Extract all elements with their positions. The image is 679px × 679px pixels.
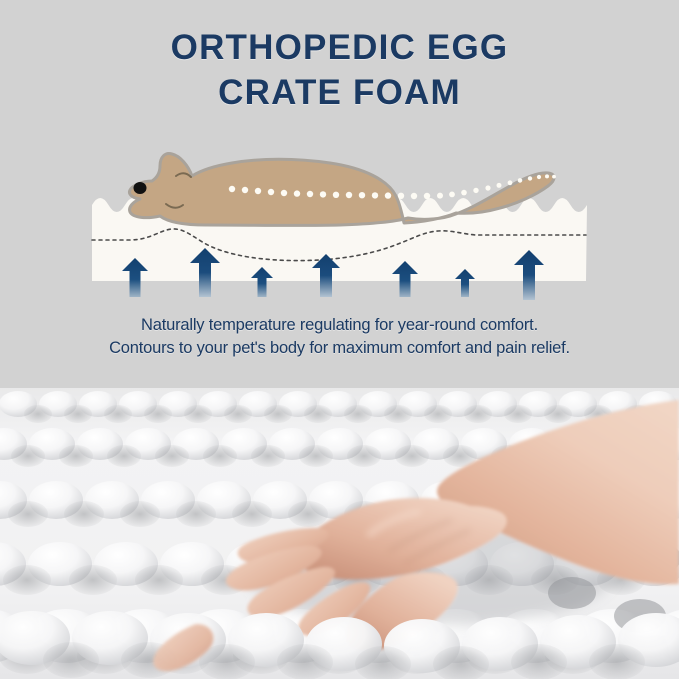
product-infographic: ORTHOPEDIC EGG CRATE FOAM (0, 0, 679, 679)
photo-canvas (0, 388, 679, 679)
dog-on-foam-illustration (0, 130, 679, 310)
title-line-2: CRATE FOAM (0, 71, 679, 116)
benefit-caption: Naturally temperature regulating for yea… (0, 314, 679, 361)
page-title: ORTHOPEDIC EGG CRATE FOAM (0, 26, 679, 116)
title-line-1: ORTHOPEDIC EGG (0, 26, 679, 71)
caption-line-1: Naturally temperature regulating for yea… (0, 314, 679, 337)
top-info-panel: ORTHOPEDIC EGG CRATE FOAM (0, 0, 679, 388)
caption-line-2: Contours to your pet's body for maximum … (0, 337, 679, 360)
dog-nose-icon (134, 182, 147, 194)
hand-pressing-foam-photo (0, 388, 679, 679)
illustration-canvas (0, 130, 679, 310)
